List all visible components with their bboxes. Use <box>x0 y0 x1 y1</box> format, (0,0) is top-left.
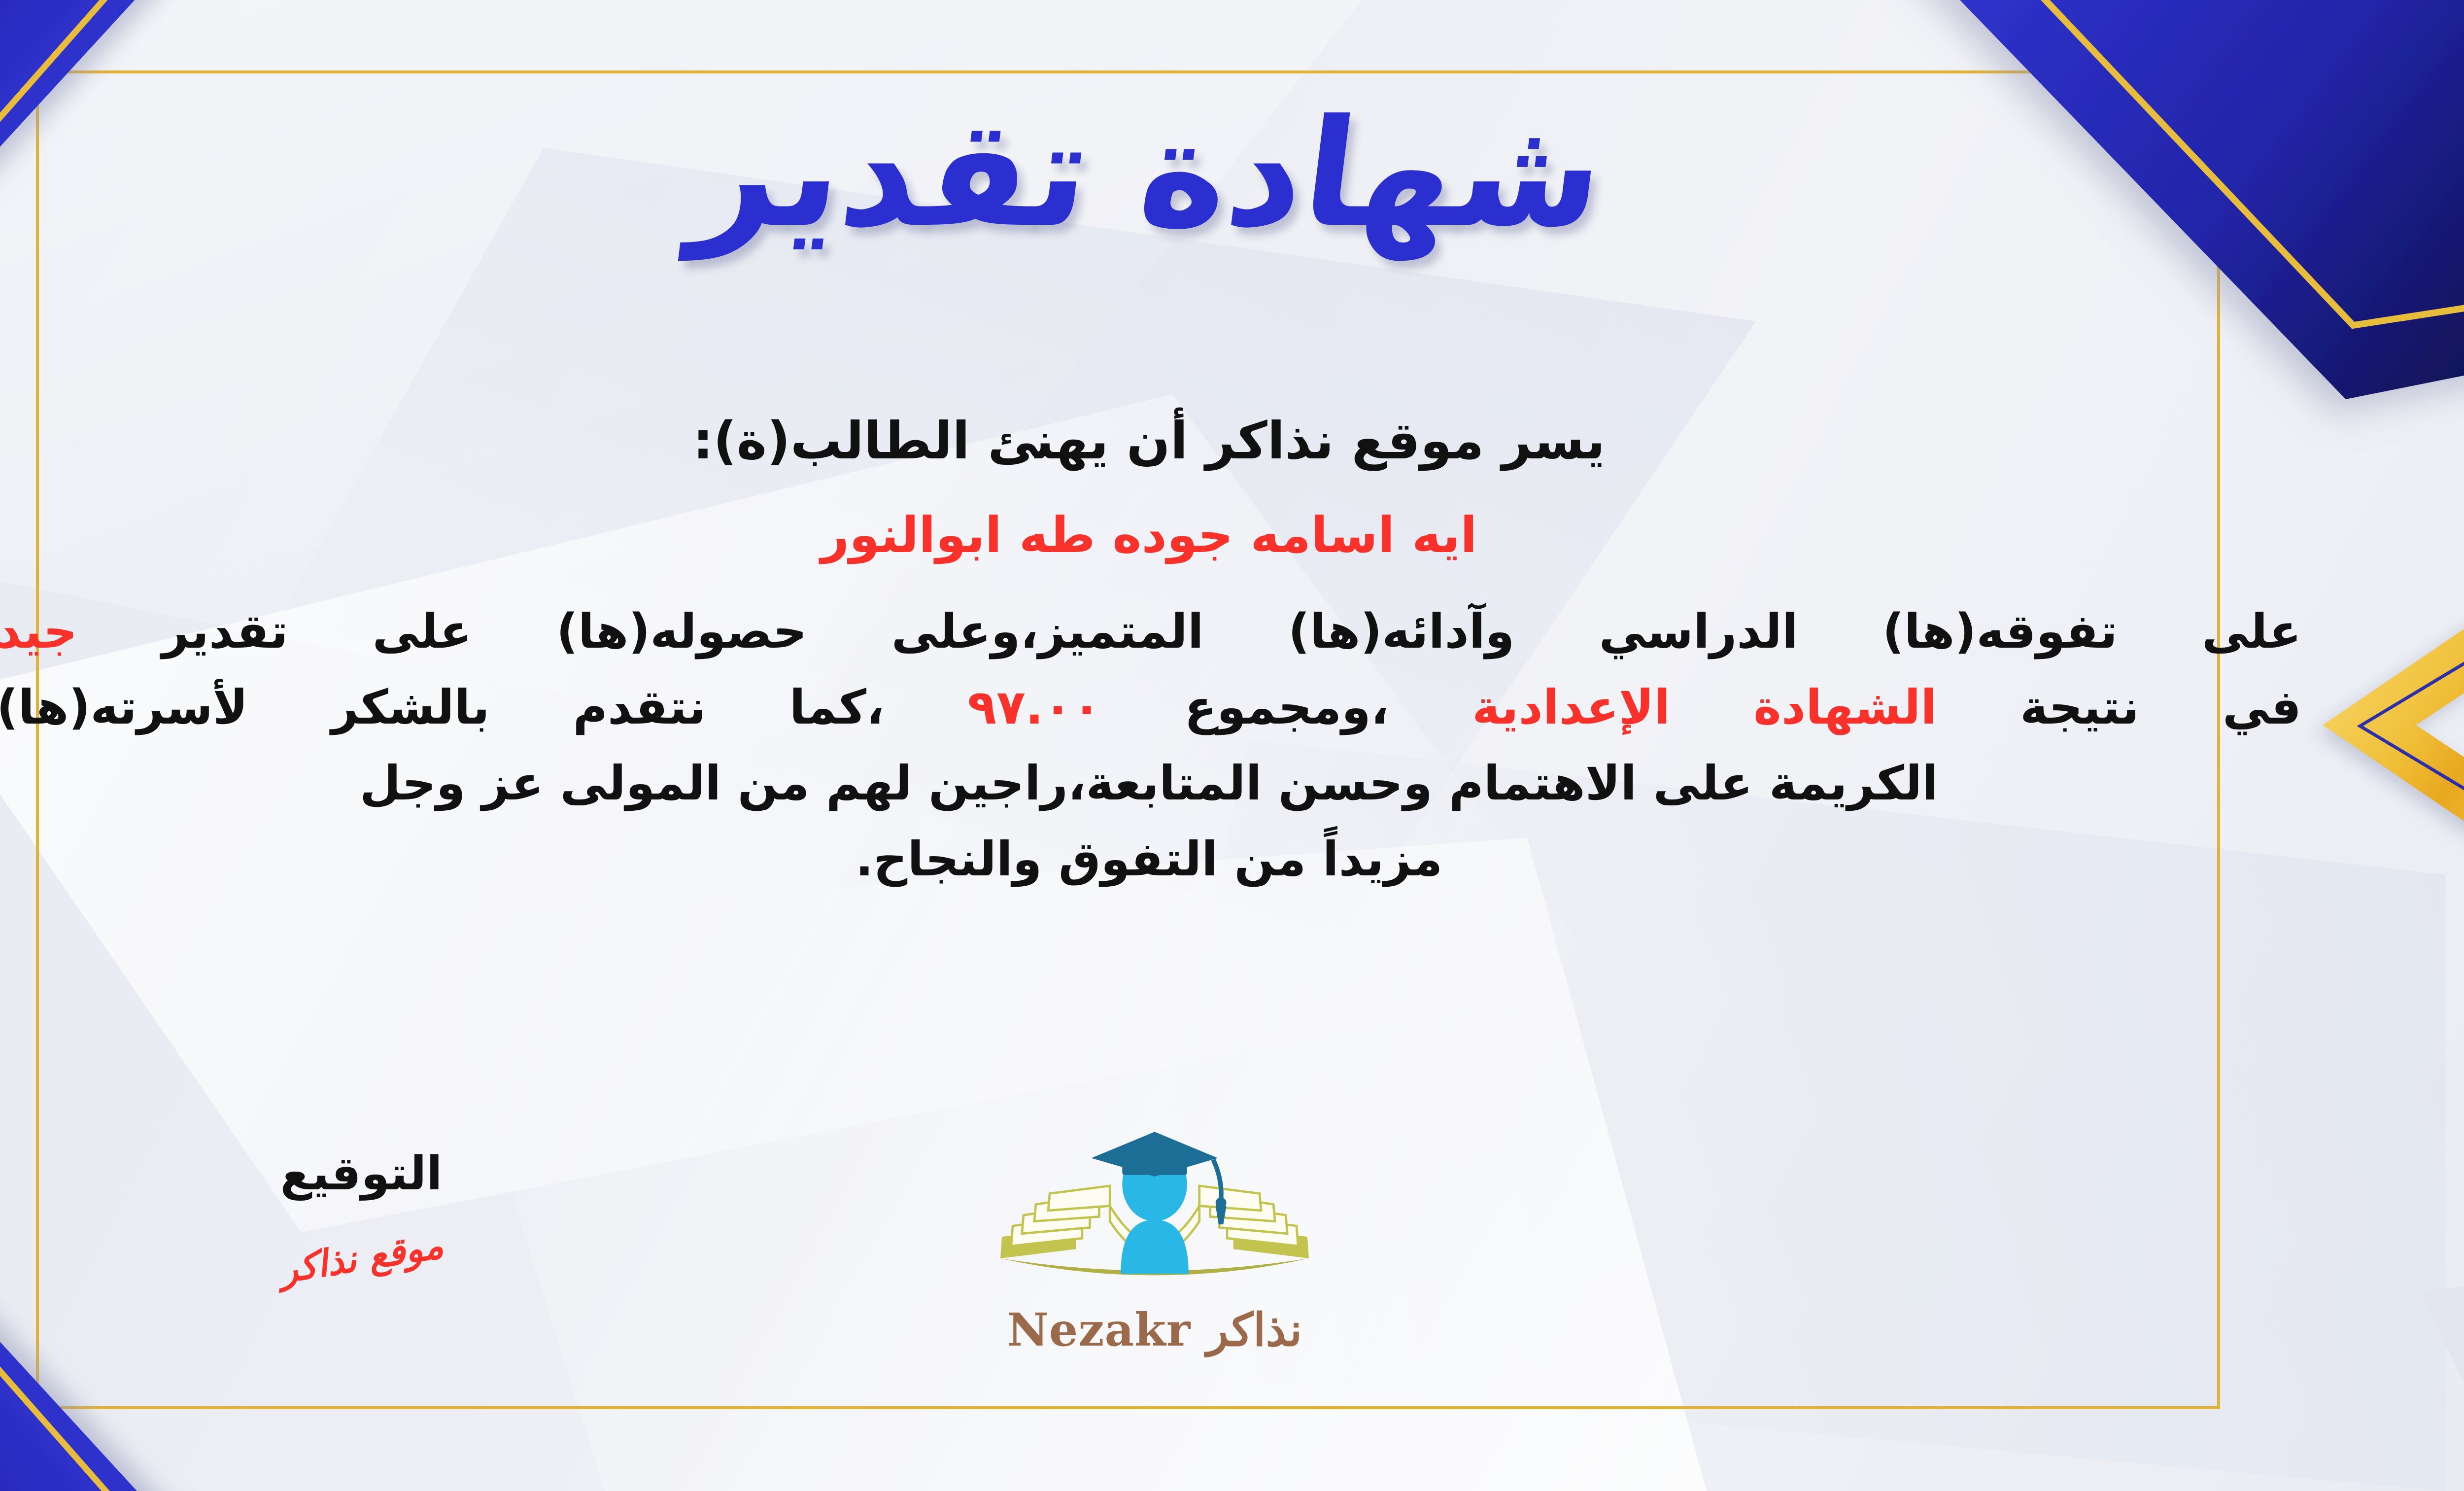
closing-line: مزيداً من التفوق والنجاح. <box>0 825 2336 893</box>
result-suffix: ،كما نتقدم بالشكر لأسرته(ها) <box>0 680 885 735</box>
logo-wordmark: نذاكر Nezakr <box>977 1303 1332 1356</box>
certificate-canvas: شهادة تقدير يسر موقع نذاكر أن يهنئ الطال… <box>0 0 2464 1491</box>
thanks-line: الكريمة على الاهتمام وحسن المتابعة،راجين… <box>0 749 2336 817</box>
graduate-book-logo-icon <box>977 1129 1332 1306</box>
exam-result-line: في نتيجة الشهادة الإعدادية ،ومجموع ٩٧.٠٠… <box>0 673 2336 741</box>
intro-line: يسر موقع نذاكر أن يهنئ الطالب(ة): <box>0 404 2336 478</box>
signature-area: التوقيع موقع نذاكر <box>208 1148 514 1279</box>
signature-label: التوقيع <box>208 1148 514 1199</box>
grade-value: جيد <box>0 604 77 659</box>
exam-name: الشهادة الإعدادية <box>1472 680 1937 735</box>
achievement-line: على تفوقه(ها) الدراسي وآدائه(ها) المتميز… <box>0 597 2336 665</box>
certificate-body: يسر موقع نذاكر أن يهنئ الطالب(ة): ايه اس… <box>0 404 2336 902</box>
result-mid: ،ومجموع <box>1184 680 1389 735</box>
student-name: ايه اسامه جوده طه ابوالنور <box>0 500 2336 571</box>
total-score: ٩٧.٠٠ <box>968 680 1101 735</box>
achievement-text: على تفوقه(ها) الدراسي وآدائه(ها) المتميز… <box>162 604 2301 659</box>
result-prefix: في نتيجة <box>2020 680 2301 735</box>
site-logo: نذاكر Nezakr <box>977 1129 1332 1356</box>
